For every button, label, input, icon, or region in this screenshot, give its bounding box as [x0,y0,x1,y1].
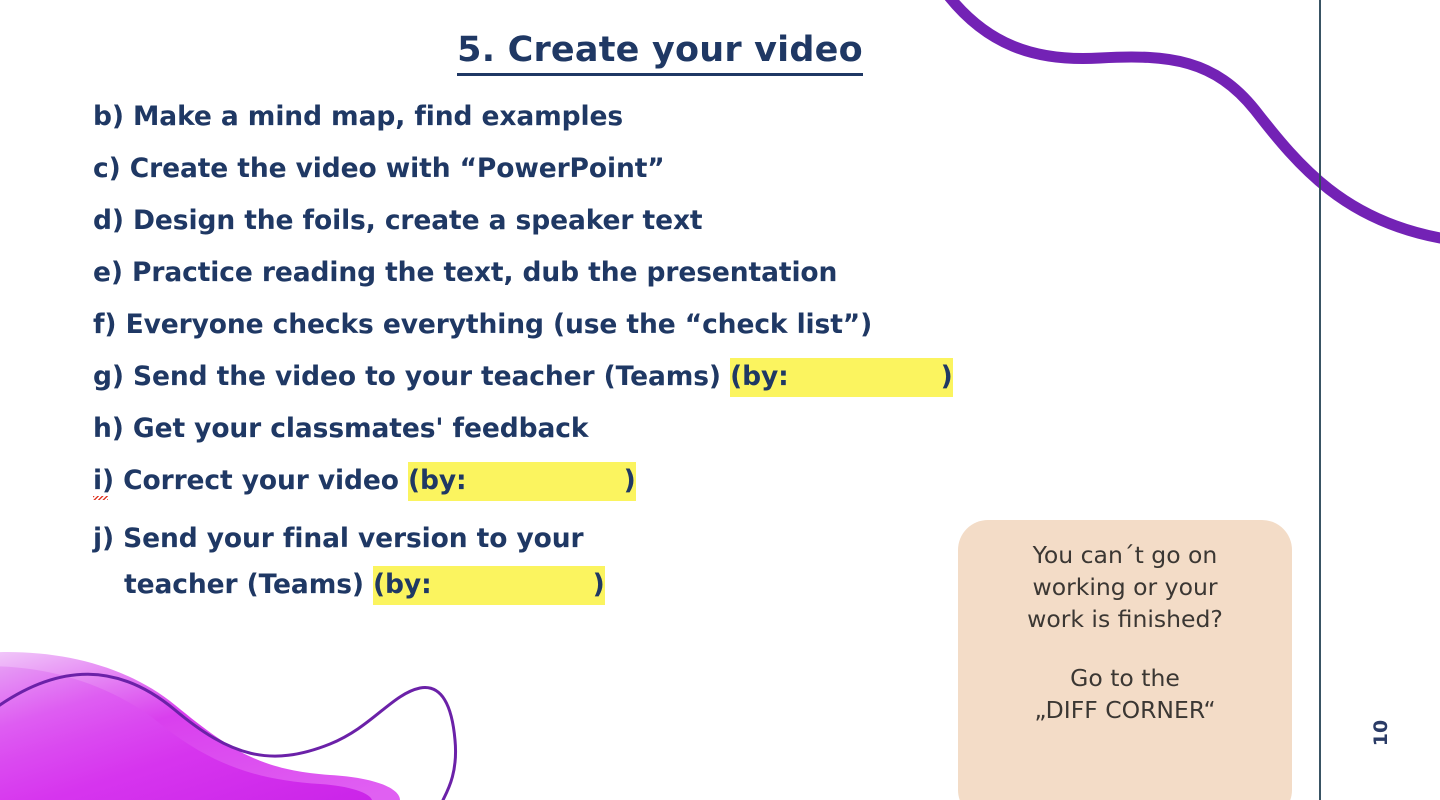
list-item-marker: h) [93,413,124,444]
list-item-marker: e) [93,257,123,288]
list-item: e) Practice reading the text, dub the pr… [93,260,1273,287]
list-item-text: Make a mind map, find examples [133,101,623,132]
list-item: g) Send the video to your teacher (Teams… [93,364,1273,391]
list-item-text-continued: teacher (Teams) [124,569,364,600]
list-item-text: Send the video to your teacher (Teams) [133,361,721,392]
list-item-text: Correct your video [123,465,399,496]
callout-action-line-1: Go to the [974,663,1276,695]
deadline-label: (by: [408,465,467,496]
list-item-marker: g) [93,361,124,392]
list-item-text: Send your final version to your [123,523,583,554]
callout-spacer [974,636,1276,663]
list-item-marker: j) [93,523,114,554]
callout-question-line-2: working or your [974,572,1276,604]
deadline-close-paren: ) [624,465,636,496]
deadline-blank-field[interactable]: (by:) [730,358,953,397]
list-item-text: Design the foils, create a speaker text [133,205,702,236]
list-item: i) Correct your video (by:) [93,468,1273,495]
list-item-text: Everyone checks everything (use the “che… [126,309,873,340]
list-item: d) Design the foils, create a speaker te… [93,208,1273,235]
purple-curve-bottom [0,674,456,800]
deadline-close-paren: ) [941,361,953,392]
callout-question-line-1: You can´t go on [974,540,1276,572]
list-item: c) Create the video with “PowerPoint” [93,156,1273,183]
list-item-marker: c) [93,153,121,184]
deadline-label: (by: [730,361,789,392]
callout-action-line-2: „DIFF CORNER“ [974,695,1276,727]
callout-question-line-3: work is finished? [974,604,1276,636]
slide-canvas: 10 5. Create your video b) Make a mind m… [0,0,1440,800]
deadline-blank-field[interactable]: (by:) [408,462,636,501]
list-item: h) Get your classmates' feedback [93,416,1273,443]
magenta-blob-shape [0,652,400,800]
list-item-marker: i) [93,468,114,495]
magenta-blob-shape-overlay [0,666,372,800]
list-item: f) Everyone checks everything (use the “… [93,312,1273,339]
list-item-text: Practice reading the text, dub the prese… [132,257,837,288]
deadline-blank-field[interactable]: (by:) [373,566,605,605]
vertical-divider [1319,0,1321,800]
page-title: 5. Create your video [0,30,1320,76]
list-item-text: Get your classmates' feedback [133,413,588,444]
diff-corner-callout: You can´t go on working or your work is … [958,520,1292,800]
list-item-text: Create the video with “PowerPoint” [130,153,665,184]
deadline-label: (by: [373,569,432,600]
deadline-close-paren: ) [593,569,605,600]
list-item-marker: d) [93,205,124,236]
list-item: b) Make a mind map, find examples [93,104,1273,131]
list-item-marker: b) [93,101,124,132]
page-title-text: 5. Create your video [457,30,863,76]
list-item-marker: f) [93,309,116,340]
page-number: 10 [1370,720,1392,746]
